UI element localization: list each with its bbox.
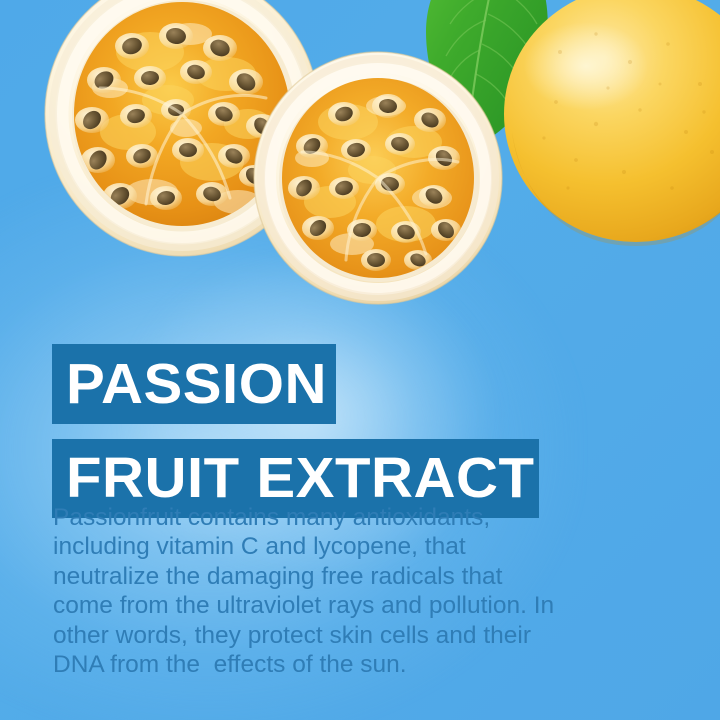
body-line: other words, they protect skin cells and… [53,621,653,650]
body-paragraph: Passionfruit contains many antioxidants,… [53,503,653,679]
body-line: neutralize the damaging free radicals th… [53,562,653,591]
headline-line-1: PASSION [52,344,336,424]
body-line: come from the ultraviolet rays and pollu… [53,591,653,620]
headline-line-2-text: FRUIT EXTRACT [66,450,534,507]
body-line: including vitamin C and lycopene, that [53,532,653,561]
headline-line-1-text: PASSION [66,356,327,413]
headline: PASSION FRUIT EXTRACT [52,344,672,518]
passion-fruit-half-right-icon [254,52,502,304]
whole-passion-fruit-icon [504,0,720,246]
poster-canvas: PASSION FRUIT EXTRACT Passionfruit conta… [0,0,720,720]
body-line: Passionfruit contains many antioxidants, [53,503,653,532]
body-line: DNA from the effects of the sun. [53,650,653,679]
body-copy: Passionfruit contains many antioxidants,… [53,503,653,679]
